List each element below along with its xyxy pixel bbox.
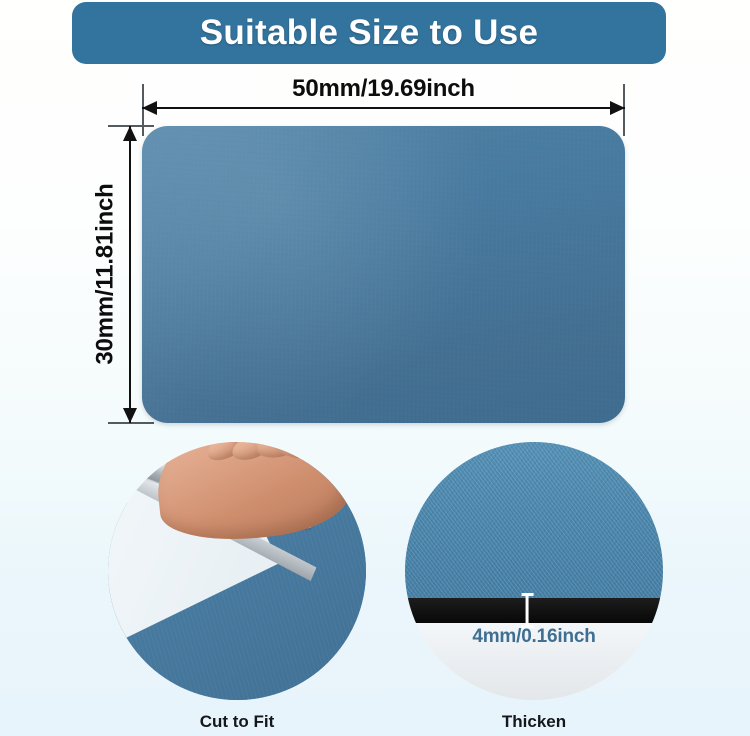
product-dimension-diagram: 50mm/19.69inch 30mm/11.81inch xyxy=(0,64,750,436)
arrow-down-icon xyxy=(123,408,137,423)
feature-photos: 4mm/0.16inch Cut to Fit Thicken xyxy=(0,436,750,736)
cut-to-fit-photo xyxy=(108,442,366,700)
mat-backing-layer xyxy=(405,598,663,623)
width-dimension-label: 50mm/19.69inch xyxy=(142,75,625,103)
measure-stem xyxy=(526,593,529,628)
width-dimension-line xyxy=(142,107,625,109)
height-dimension-line xyxy=(129,126,131,423)
arrow-right-icon xyxy=(610,101,625,115)
arrow-left-icon xyxy=(142,101,157,115)
header-banner: Suitable Size to Use xyxy=(72,2,666,64)
thickness-dimension-label: 4mm/0.16inch xyxy=(405,626,663,648)
thickness-measure-icon xyxy=(521,593,534,628)
height-dimension-label: 30mm/11.81inch xyxy=(92,126,120,423)
product-mat-image xyxy=(142,126,625,423)
mat-sheen-overlay xyxy=(142,126,625,423)
caption-thicken: Thicken xyxy=(405,712,663,732)
mat-top-layer xyxy=(405,442,663,598)
infographic-page: Suitable Size to Use 50mm/19.69inch 30mm… xyxy=(0,0,750,736)
arrow-up-icon xyxy=(123,126,137,141)
thicken-photo xyxy=(405,442,663,700)
page-title: Suitable Size to Use xyxy=(200,13,539,53)
caption-cut-to-fit: Cut to Fit xyxy=(108,712,366,732)
